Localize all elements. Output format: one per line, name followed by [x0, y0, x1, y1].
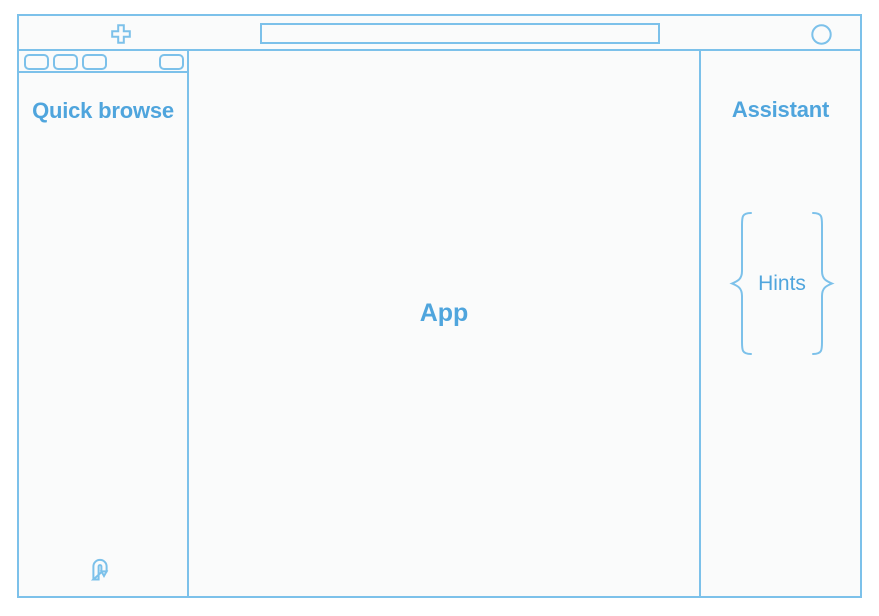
avatar-circle-icon[interactable] [811, 24, 832, 45]
toolbar-button-1[interactable] [24, 54, 49, 70]
header-bar [19, 16, 860, 51]
sidebar-content: Quick browse [19, 73, 187, 596]
sidebar-toolbar [19, 51, 187, 73]
search-input[interactable] [260, 23, 660, 44]
right-brace-icon [809, 211, 835, 356]
hints-label: Hints [755, 272, 809, 296]
header-add-zone [19, 16, 244, 49]
header-search-zone [244, 16, 694, 49]
application-window: Quick browse App Assistant [17, 14, 862, 598]
header-account-zone [690, 16, 860, 49]
toolbar-button-3[interactable] [82, 54, 107, 70]
plus-icon[interactable] [111, 24, 131, 44]
assistant-title: Assistant [701, 97, 860, 123]
sidebar-title: Quick browse [19, 95, 187, 126]
body-area: Quick browse App Assistant [19, 51, 860, 596]
toolbar-button-2[interactable] [53, 54, 78, 70]
u-turn-arrow-icon[interactable] [88, 554, 118, 584]
app-label: App [189, 51, 699, 596]
wireframe-root: Quick browse App Assistant [0, 0, 879, 616]
sidebar-panel: Quick browse [19, 51, 189, 596]
assistant-panel: Assistant Hints [699, 51, 860, 596]
app-panel: App [189, 51, 699, 596]
toolbar-button-4[interactable] [159, 54, 184, 70]
hints-block: Hints [712, 211, 852, 356]
left-brace-icon [729, 211, 755, 356]
